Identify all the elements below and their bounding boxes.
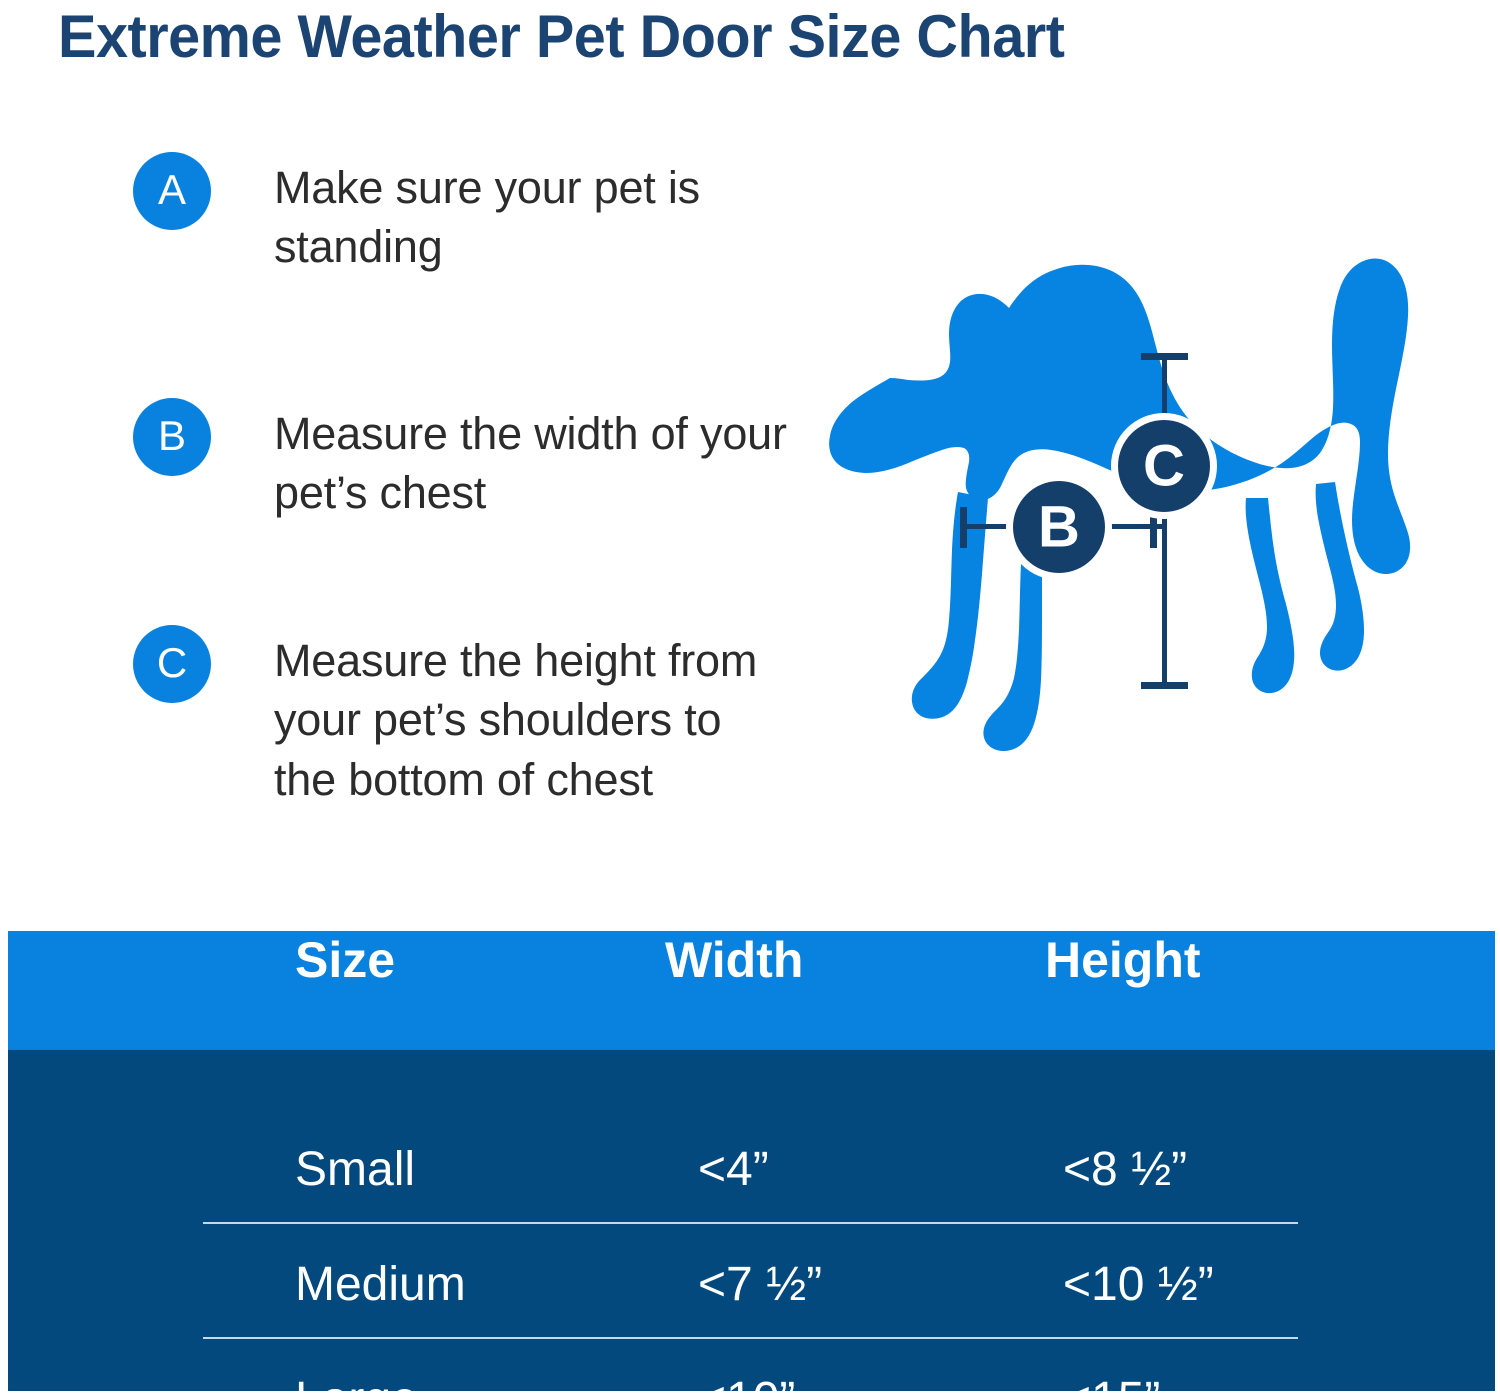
table-cell-height-large: <15” — [1063, 1372, 1160, 1391]
instruction-step-b: B Measure the width of your pet’s chest — [133, 398, 790, 523]
measure-cap-b-left — [960, 507, 967, 548]
table-row: Small — [295, 1142, 415, 1197]
marker-badge-b: B — [1006, 474, 1112, 580]
step-text-a: Make sure your pet is standing — [274, 152, 790, 277]
row-divider — [203, 1222, 1298, 1224]
marker-badge-c: C — [1111, 413, 1217, 519]
table-cell-width-large: <10” — [698, 1372, 795, 1391]
measure-cap-c-bottom — [1141, 682, 1188, 689]
marker-label-c: C — [1143, 434, 1185, 499]
dog-measurement-diagram: C B — [770, 150, 1450, 850]
instruction-step-c: C Measure the height from your pet’s sho… — [133, 625, 790, 809]
step-text-c: Measure the height from your pet’s shoul… — [274, 625, 790, 809]
step-badge-c: C — [133, 625, 211, 703]
step-badge-a: A — [133, 152, 211, 230]
step-badge-b: B — [133, 398, 211, 476]
column-header-size: Size — [295, 931, 395, 989]
marker-label-b: B — [1038, 495, 1080, 560]
size-chart-table: Size Width Height Small <4” <8 ½” Medium… — [8, 931, 1495, 1391]
instruction-step-a: A Make sure your pet is standing — [133, 152, 790, 277]
measure-line-c-stem — [1162, 357, 1167, 687]
step-text-b: Measure the width of your pet’s chest — [274, 398, 790, 523]
table-header-row: Size Width Height — [8, 931, 1495, 1050]
table-body: Small <4” <8 ½” Medium <7 ½” <10 ½” Larg… — [8, 1050, 1495, 1391]
table-cell-width-small: <4” — [698, 1142, 769, 1197]
page-title: Extreme Weather Pet Door Size Chart — [58, 2, 1064, 71]
table-row: Medium — [295, 1257, 466, 1312]
column-header-width: Width — [665, 931, 803, 989]
table-cell-width-medium: <7 ½” — [698, 1257, 822, 1312]
row-divider — [203, 1337, 1298, 1339]
table-cell-height-medium: <10 ½” — [1063, 1257, 1214, 1312]
table-cell-height-small: <8 ½” — [1063, 1142, 1187, 1197]
column-header-height: Height — [1045, 931, 1201, 989]
table-row: Large — [295, 1372, 418, 1391]
dog-silhouette-icon: C B — [770, 150, 1450, 850]
measure-cap-c-top — [1141, 353, 1188, 360]
